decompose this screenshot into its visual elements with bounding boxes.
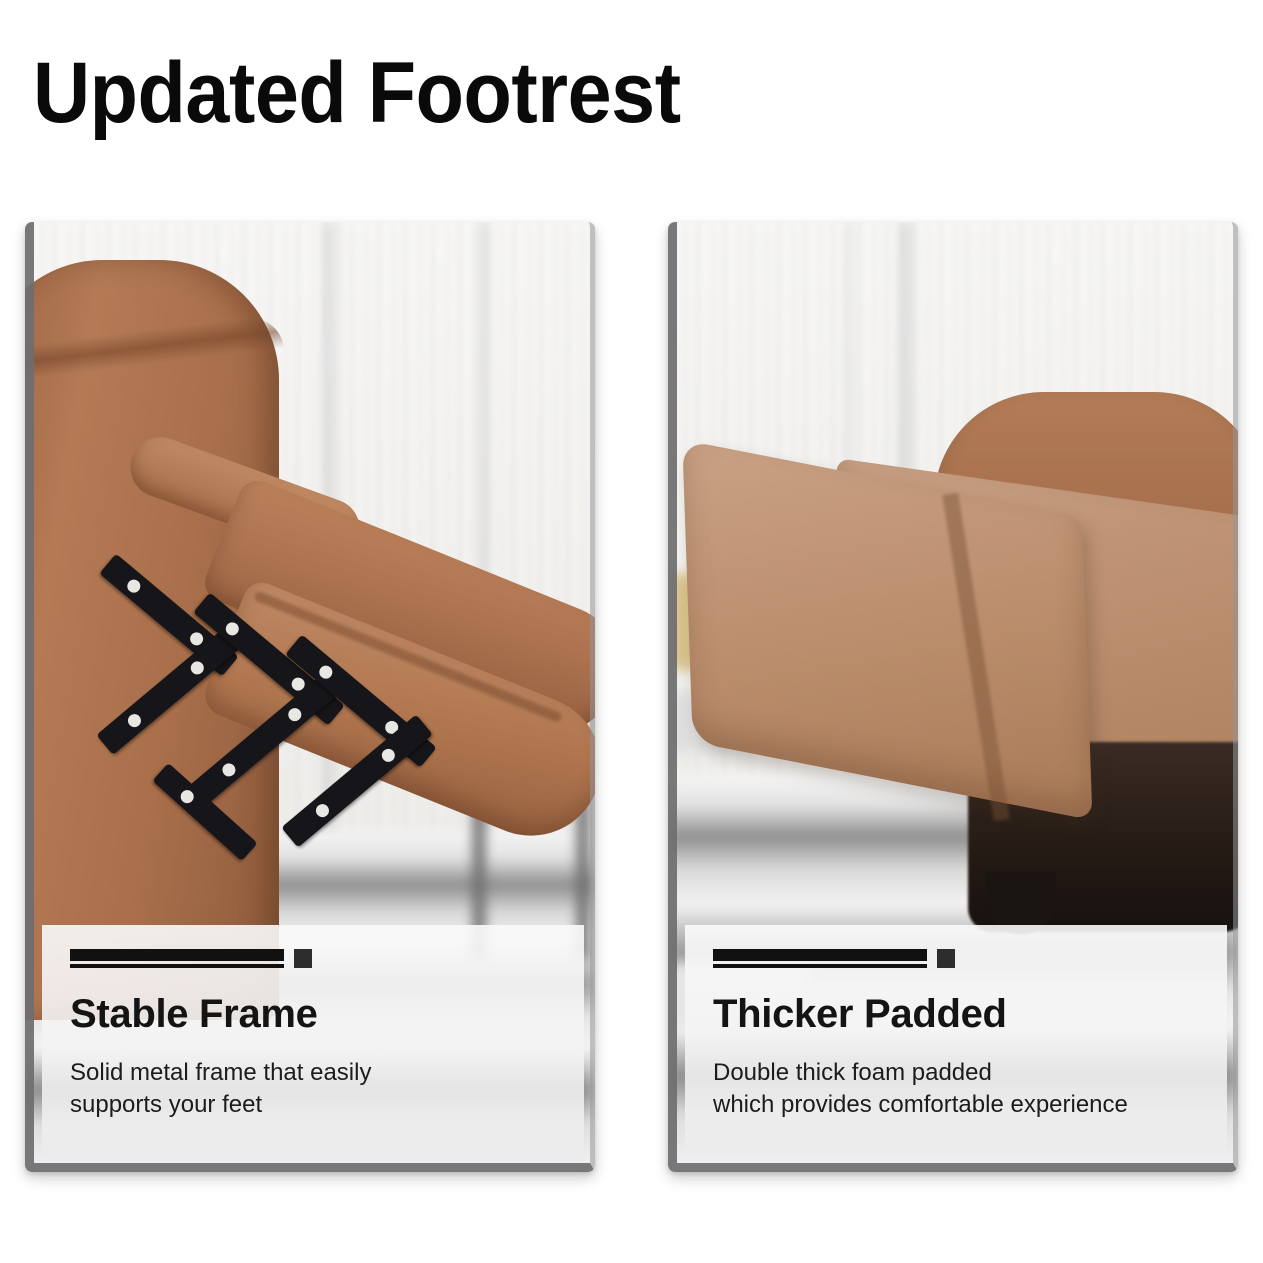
caption-rule-decoration [70, 949, 320, 969]
linkage-bar [281, 714, 433, 847]
page-header: Updated Footrest [33, 50, 1033, 160]
linkage-bar [189, 672, 341, 805]
caption-body: Double thick foam padded which provides … [713, 1057, 1201, 1121]
feature-panel-thicker-padded: Thicker Padded Double thick foam padded … [668, 222, 1238, 1172]
rule-thick-bar [70, 949, 284, 961]
rule-thin-bar [70, 964, 284, 968]
rule-thin-bar [713, 964, 927, 968]
infographic-page: Updated Footrest [0, 0, 1263, 1263]
caption-body: Solid metal frame that easily supports y… [70, 1057, 558, 1121]
rule-square-accent [937, 949, 955, 968]
rule-thick-bar [713, 949, 927, 961]
panels-row: Stable Frame Solid metal frame that easi… [0, 210, 1263, 1190]
linkage-bar [96, 627, 241, 755]
metal-frame-mechanism [85, 592, 465, 932]
rule-square-accent [294, 949, 312, 968]
caption-stable-frame: Stable Frame Solid metal frame that easi… [42, 925, 584, 1155]
feature-panel-stable-frame: Stable Frame Solid metal frame that easi… [25, 222, 595, 1172]
caption-thicker-padded: Thicker Padded Double thick foam padded … [685, 925, 1227, 1155]
page-title: Updated Footrest [33, 50, 953, 136]
caption-title: Stable Frame [70, 993, 558, 1035]
caption-title: Thicker Padded [713, 993, 1201, 1035]
caption-rule-decoration [713, 949, 963, 969]
